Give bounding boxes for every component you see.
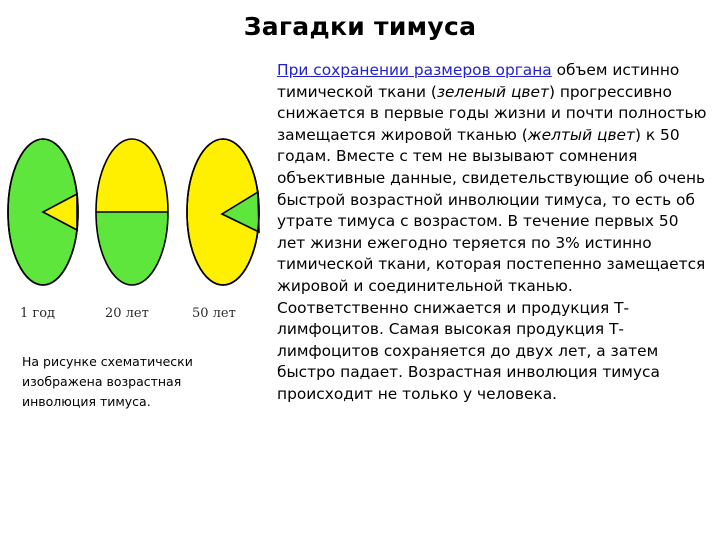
thymus-oval-icon: [95, 138, 169, 286]
green-tissue-region: [95, 212, 169, 286]
age-label-50-years: 50 лет: [192, 306, 236, 321]
figure-caption: На рисунке схематически изображена возра…: [22, 352, 242, 412]
thymus-involution-diagram: [0, 130, 268, 295]
yellow-tissue-region: [95, 138, 169, 212]
thymus-oval-icon: [7, 138, 79, 286]
body-text-block: При сохранении размеров органа объем ист…: [277, 60, 709, 406]
age-label-1-year: 1 год: [20, 306, 55, 321]
italic-yellow-color-phrase: желтый цвет: [528, 126, 635, 144]
italic-green-color-phrase: зеленый цвет: [437, 83, 549, 101]
page-title: Загадки тимуса: [0, 12, 720, 41]
age-label-20-years: 20 лет: [105, 306, 149, 321]
thymus-oval-icon: [186, 138, 261, 286]
body-segment-3: ) к 50 годам. Вместе с тем не вызывают с…: [277, 126, 705, 403]
body-paragraph: При сохранении размеров органа объем ист…: [277, 60, 709, 406]
thymus-stage-20-years: [95, 138, 169, 286]
age-label-row: 1 год 20 лет 50 лет: [0, 306, 268, 328]
hyperlink-phrase[interactable]: При сохранении размеров органа: [277, 61, 552, 79]
thymus-stage-50-years: [186, 138, 261, 286]
thymus-stage-1-year: [7, 138, 79, 286]
